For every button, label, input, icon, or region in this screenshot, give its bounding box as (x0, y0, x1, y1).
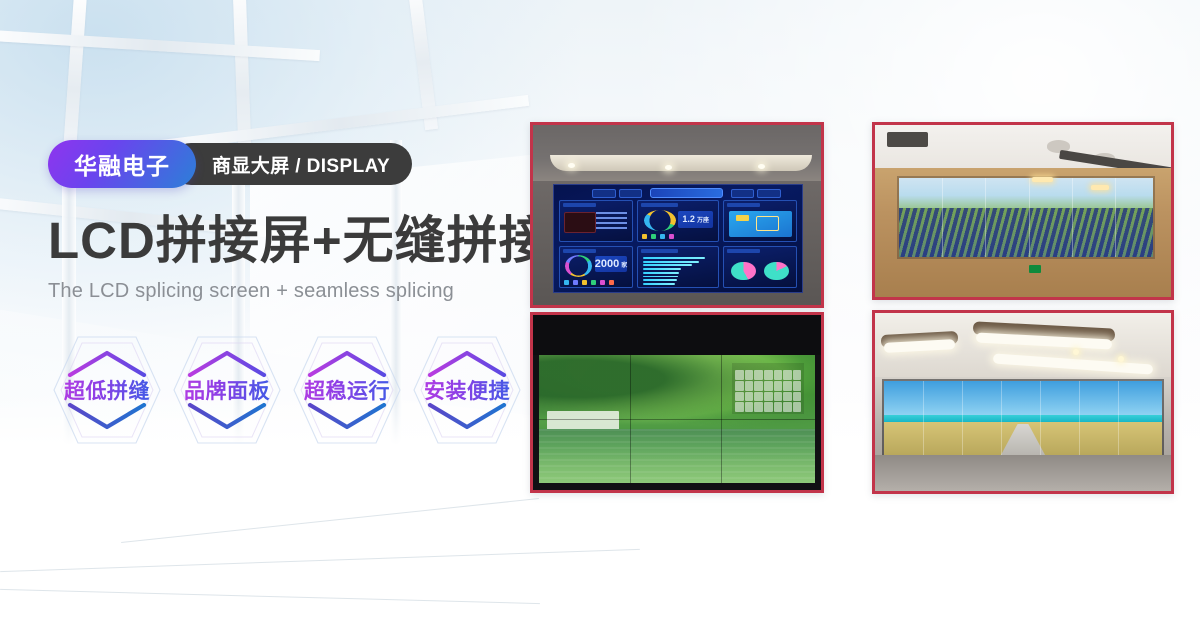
bar (643, 257, 705, 259)
legend-swatch (669, 234, 674, 239)
calendar-cell (783, 392, 792, 402)
kpi-panel: 1.2 万座 (678, 211, 713, 228)
wall-light (1091, 185, 1109, 190)
panel-seam (1040, 381, 1041, 456)
calendar-cell (745, 381, 754, 391)
legend-swatch (609, 280, 614, 285)
calendar-cell (793, 381, 802, 391)
beach-sea (884, 415, 1162, 422)
feature-badge: 超低拼缝 (48, 331, 166, 449)
calendar-cell (774, 370, 783, 380)
ceiling-downlight-icon (1073, 349, 1079, 355)
legend-swatch (573, 280, 578, 285)
bar (643, 279, 677, 281)
calendar-cell (783, 370, 792, 380)
donut-chart (644, 210, 676, 231)
feature-badge-label: 超低拼缝 (48, 375, 166, 405)
feature-badge: 品牌面板 (168, 331, 286, 449)
panel-seam (539, 419, 816, 420)
kpi-unit: 万座 (697, 215, 709, 224)
calendar-cell (754, 370, 763, 380)
panel-seam (942, 178, 943, 257)
badge-row: 华融电子 商显大屏 / DISPLAY (48, 140, 548, 188)
dashboard-card: 2000 家 (559, 246, 633, 288)
calendar-cell (754, 381, 763, 391)
calendar-cell (783, 402, 792, 412)
bar (643, 283, 676, 285)
legend-swatch (660, 234, 665, 239)
product-photo-solar-farm-video-wall[interactable] (872, 122, 1174, 300)
photo-ceiling-cove (550, 155, 812, 171)
video-wall-screen (899, 178, 1154, 257)
banner-copy: 华融电子 商显大屏 / DISPLAY LCD拼接屏+无缝拼接 The LCD … (48, 140, 548, 449)
calendar-cell (764, 402, 773, 412)
feature-badge-label: 安装便捷 (408, 375, 526, 405)
kpi-value: 1.2 (682, 214, 695, 224)
dashboard-card (559, 200, 633, 242)
feature-badge-label: 超稳运行 (288, 375, 406, 405)
calendar-cell (735, 381, 744, 391)
panel-seam (985, 178, 986, 257)
product-photo-dashboard-video-wall[interactable]: 1.2 万座 (530, 122, 824, 308)
calendar-cell (745, 402, 754, 412)
pie-chart (764, 262, 788, 280)
photo-floor (875, 455, 1171, 491)
dashboard-grid: 1.2 万座 (559, 200, 797, 288)
dashboard-tab (731, 189, 754, 198)
video-wall-screen: 1.2 万座 (553, 184, 803, 292)
lake-water (539, 429, 816, 483)
page-subtitle: The LCD splicing screen + seamless splic… (48, 280, 548, 303)
brand-badge: 华融电子 (48, 140, 196, 188)
panel-seam (1118, 381, 1119, 456)
calendar-cell (764, 381, 773, 391)
video-wall-screen (539, 355, 816, 483)
dashboard-card (723, 200, 797, 242)
calendar-cell (735, 370, 744, 380)
feature-badge-row: 超低拼缝 品牌面板 超稳运行 (48, 331, 548, 449)
photo-inner (875, 125, 1171, 297)
calendar-grid (735, 370, 801, 412)
legend-swatch (651, 234, 656, 239)
calendar-cell (735, 402, 744, 412)
feature-badge: 安装便捷 (408, 331, 526, 449)
legend-swatch (591, 280, 596, 285)
chart-legend (642, 234, 714, 239)
photo-inner (875, 313, 1171, 491)
panel-seam (1029, 178, 1030, 257)
calendar-overlay (732, 363, 804, 414)
calendar-cell (793, 402, 802, 412)
calendar-cell (754, 402, 763, 412)
feature-badge: 超稳运行 (288, 331, 406, 449)
bar (643, 264, 693, 266)
photo-inner (533, 315, 821, 490)
calendar-cell (754, 392, 763, 402)
panel-seam (1115, 178, 1116, 257)
calendar-cell (774, 392, 783, 402)
bar (643, 272, 680, 274)
ceiling-vent (887, 132, 928, 147)
ceiling-downlight-icon (1118, 356, 1124, 362)
dashboard-tab (592, 189, 615, 198)
exit-sign-icon (1029, 265, 1041, 273)
calendar-cell (793, 370, 802, 380)
bar (643, 261, 700, 263)
calendar-cell (745, 392, 754, 402)
ceiling-light-icon (568, 163, 575, 168)
photo-ceiling (533, 125, 821, 181)
dashboard-card (637, 246, 719, 288)
beach-sky (884, 381, 1162, 415)
calendar-cell (764, 370, 773, 380)
product-photo-park-lake-video-wall[interactable] (530, 312, 824, 493)
donut-chart (565, 255, 592, 277)
kpi-value-2: 2000 (595, 258, 619, 270)
calendar-cell (764, 392, 773, 402)
calendar-cell (735, 392, 744, 402)
ceiling-light-icon (758, 164, 765, 169)
calendar-cell (774, 402, 783, 412)
dashboard-tab (757, 189, 780, 198)
legend-swatch (582, 280, 587, 285)
dashboard-title-plate (650, 188, 723, 198)
pie-chart (731, 262, 755, 280)
wall-light (1032, 177, 1053, 182)
panel-seam (923, 381, 924, 456)
legend-swatch (600, 280, 605, 285)
legend-swatch (564, 280, 569, 285)
panel-seam (962, 381, 963, 456)
bar-chart (643, 257, 714, 285)
screen-top-housing (533, 315, 821, 355)
photo-inner: 1.2 万座 (533, 125, 821, 305)
dashboard-card (723, 246, 797, 288)
kpi-panel: 2000 家 (595, 256, 628, 272)
product-banner: 华融电子 商显大屏 / DISPLAY LCD拼接屏+无缝拼接 The LCD … (0, 0, 1200, 640)
product-photo-beach-boardwalk-video-wall[interactable] (872, 310, 1174, 494)
panel-seam (1079, 381, 1080, 456)
panel-seam (1001, 381, 1002, 456)
video-wall-screen (884, 381, 1162, 456)
calendar-cell (745, 370, 754, 380)
legend-swatch (642, 234, 647, 239)
panel-seam (1072, 178, 1073, 257)
dashboard-tab (619, 189, 642, 198)
feature-badge-label: 品牌面板 (168, 375, 286, 405)
page-title: LCD拼接屏+无缝拼接 (48, 214, 548, 268)
calendar-cell (783, 381, 792, 391)
calendar-cell (793, 392, 802, 402)
dashboard-topbar (559, 189, 797, 199)
chart-legend (564, 280, 628, 285)
bar (643, 268, 681, 270)
bar (643, 276, 678, 278)
dashboard-card: 1.2 万座 (637, 200, 719, 242)
calendar-cell (774, 381, 783, 391)
kpi-unit-2: 家 (621, 260, 627, 269)
category-badge: 商显大屏 / DISPLAY (170, 143, 412, 185)
